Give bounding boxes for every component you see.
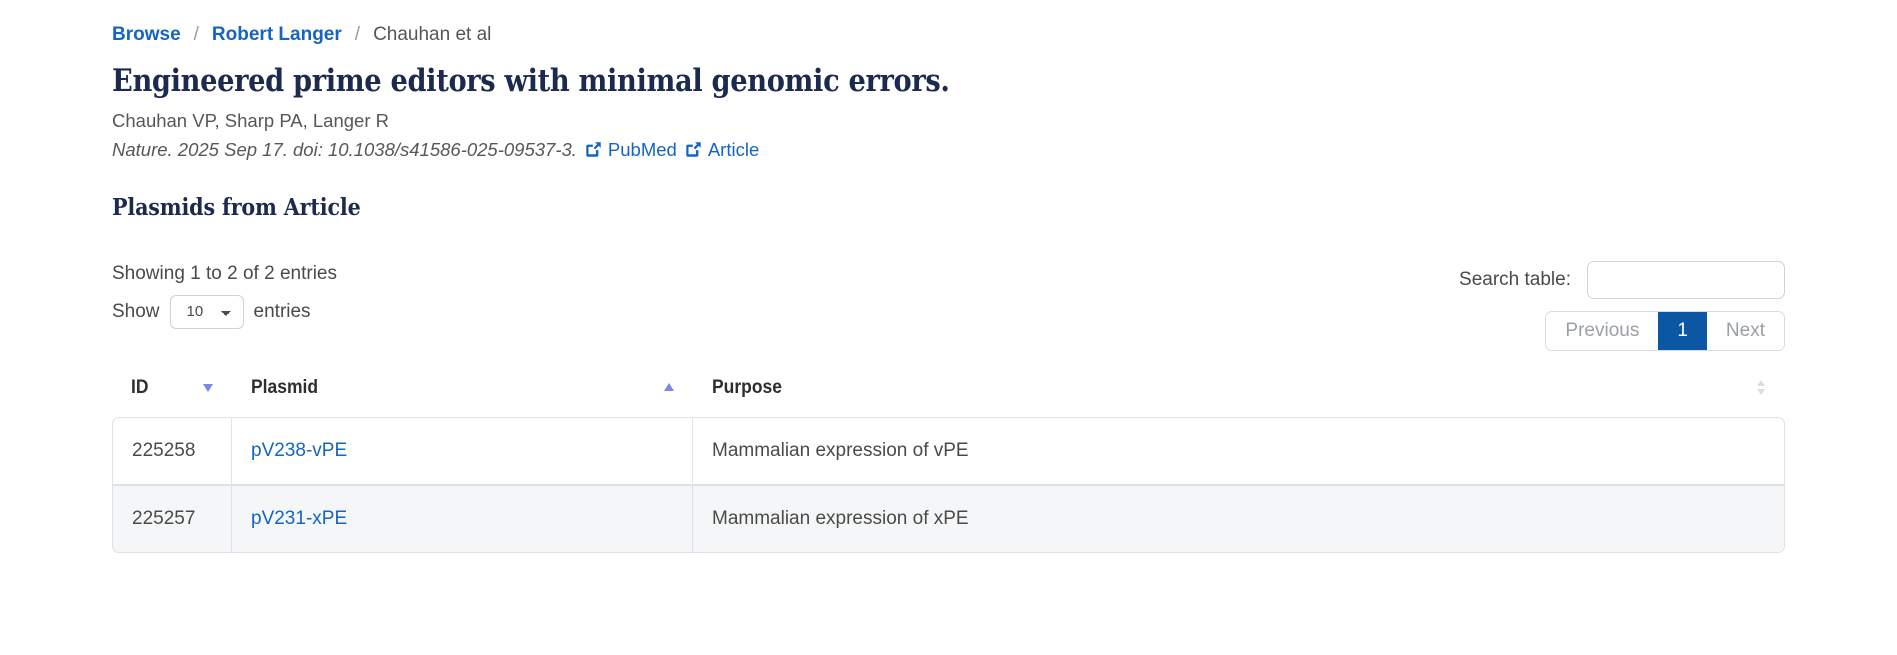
table-row: 225257 pV231-xPE Mammalian expression of…: [112, 485, 1785, 553]
sort-descending-icon: [202, 379, 214, 397]
sort-none-icon: [1755, 379, 1767, 397]
table-head: ID Plasmid: [112, 377, 1785, 417]
pubmed-link-label: PubMed: [608, 136, 677, 163]
cell-plasmid: pV231-xPE: [232, 485, 693, 553]
table-row: 225258 pV238-vPE Mammalian expression of…: [112, 417, 1785, 485]
column-header-purpose-label: Purpose: [712, 377, 782, 399]
table-body: 225258 pV238-vPE Mammalian expression of…: [112, 417, 1785, 553]
breadcrumb-item-current: Chauhan et al: [373, 22, 491, 48]
search-input[interactable]: [1587, 261, 1785, 299]
pagination: Previous 1 Next: [1545, 311, 1785, 351]
plasmid-link[interactable]: pV238-vPE: [251, 440, 347, 461]
plasmid-link[interactable]: pV231-xPE: [251, 508, 347, 529]
cell-id: 225258: [112, 417, 232, 485]
column-header-id-label: ID: [131, 377, 148, 399]
breadcrumb-separator: /: [342, 22, 373, 48]
cell-purpose: Mammalian expression of vPE: [693, 417, 1785, 485]
show-label: Show: [112, 299, 160, 325]
page-container: Browse / Robert Langer / Chauhan et al E…: [0, 0, 1897, 553]
breadcrumb-item-browse[interactable]: Browse: [112, 22, 181, 48]
table-controls: Showing 1 to 2 of 2 entries Show 10 25 5…: [112, 261, 1785, 351]
pagination-next-button[interactable]: Next: [1707, 312, 1784, 350]
external-link-icon: [685, 141, 702, 158]
breadcrumb: Browse / Robert Langer / Chauhan et al: [112, 22, 1785, 48]
article-link[interactable]: Article: [677, 136, 759, 163]
article-citation: Nature. 2025 Sep 17. doi: 10.1038/s41586…: [112, 136, 1785, 163]
table-header-row: ID Plasmid: [112, 377, 1785, 417]
plasmids-table: ID Plasmid: [112, 377, 1785, 553]
breadcrumb-item-author[interactable]: Robert Langer: [212, 22, 342, 48]
page-title: Engineered prime editors with minimal ge…: [112, 62, 1584, 100]
entries-label: entries: [254, 299, 311, 325]
pubmed-link[interactable]: PubMed: [577, 136, 677, 163]
search-label: Search table:: [1459, 269, 1571, 291]
section-heading: Plasmids from Article: [112, 193, 1618, 223]
article-authors: Chauhan VP, Sharp PA, Langer R: [112, 108, 1785, 134]
column-header-id[interactable]: ID: [112, 377, 232, 417]
entries-info: Showing 1 to 2 of 2 entries: [112, 261, 337, 287]
pagination-previous-button[interactable]: Previous: [1546, 312, 1658, 350]
citation-text: Nature. 2025 Sep 17. doi: 10.1038/s41586…: [112, 136, 577, 163]
cell-id: 225257: [112, 485, 232, 553]
search-row: Search table:: [1459, 261, 1785, 299]
table-controls-left: Showing 1 to 2 of 2 entries Show 10 25 5…: [112, 261, 337, 329]
table-controls-right: Search table: Previous 1 Next: [1459, 261, 1785, 351]
page-length-control: Show 10 25 50 100 entries: [112, 295, 337, 329]
column-header-plasmid[interactable]: Plasmid: [232, 377, 693, 417]
pagination-page-1-button[interactable]: 1: [1658, 312, 1707, 350]
cell-purpose: Mammalian expression of xPE: [693, 485, 1785, 553]
breadcrumb-separator: /: [181, 22, 212, 48]
table-wrapper: ID Plasmid: [112, 377, 1785, 553]
sort-ascending-icon: [663, 379, 675, 397]
column-header-plasmid-label: Plasmid: [251, 377, 318, 399]
page-length-select[interactable]: 10 25 50 100: [170, 295, 244, 329]
cell-plasmid: pV238-vPE: [232, 417, 693, 485]
column-header-purpose[interactable]: Purpose: [693, 377, 1785, 417]
article-link-label: Article: [708, 136, 759, 163]
external-link-icon: [585, 141, 602, 158]
